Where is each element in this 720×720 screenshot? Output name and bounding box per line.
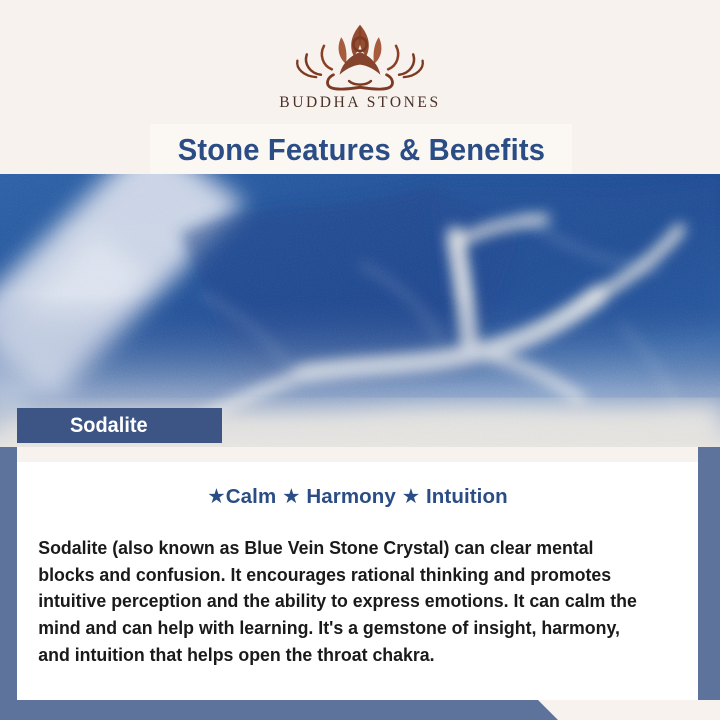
- title-banner: Stone Features & Benefits: [150, 124, 572, 174]
- stone-keywords: ★Calm ★ Harmony ★ Intuition: [17, 462, 698, 509]
- card-header: BUDDHA STONES Stone Features & Benefits: [0, 0, 720, 174]
- stone-description: Sodalite (also known as Blue Vein Stone …: [17, 509, 674, 668]
- content-panel: ★Calm ★ Harmony ★ Intuition Sodalite (al…: [17, 462, 698, 700]
- stone-name-badge: Sodalite: [17, 408, 222, 443]
- content-top-strip: [17, 447, 698, 462]
- stone-texture: [0, 174, 720, 447]
- frame-bottom-accent: [0, 700, 720, 720]
- lotus-meditation-icon: [280, 20, 440, 92]
- stone-info-card: BUDDHA STONES Stone Features & Benefits: [0, 0, 720, 720]
- brand-logo: BUDDHA STONES: [0, 20, 720, 120]
- brand-name: BUDDHA STONES: [279, 94, 440, 112]
- page-title: Stone Features & Benefits: [177, 134, 544, 165]
- sodalite-stone-photo: [0, 174, 720, 447]
- stone-name-label: Sodalite: [70, 414, 148, 438]
